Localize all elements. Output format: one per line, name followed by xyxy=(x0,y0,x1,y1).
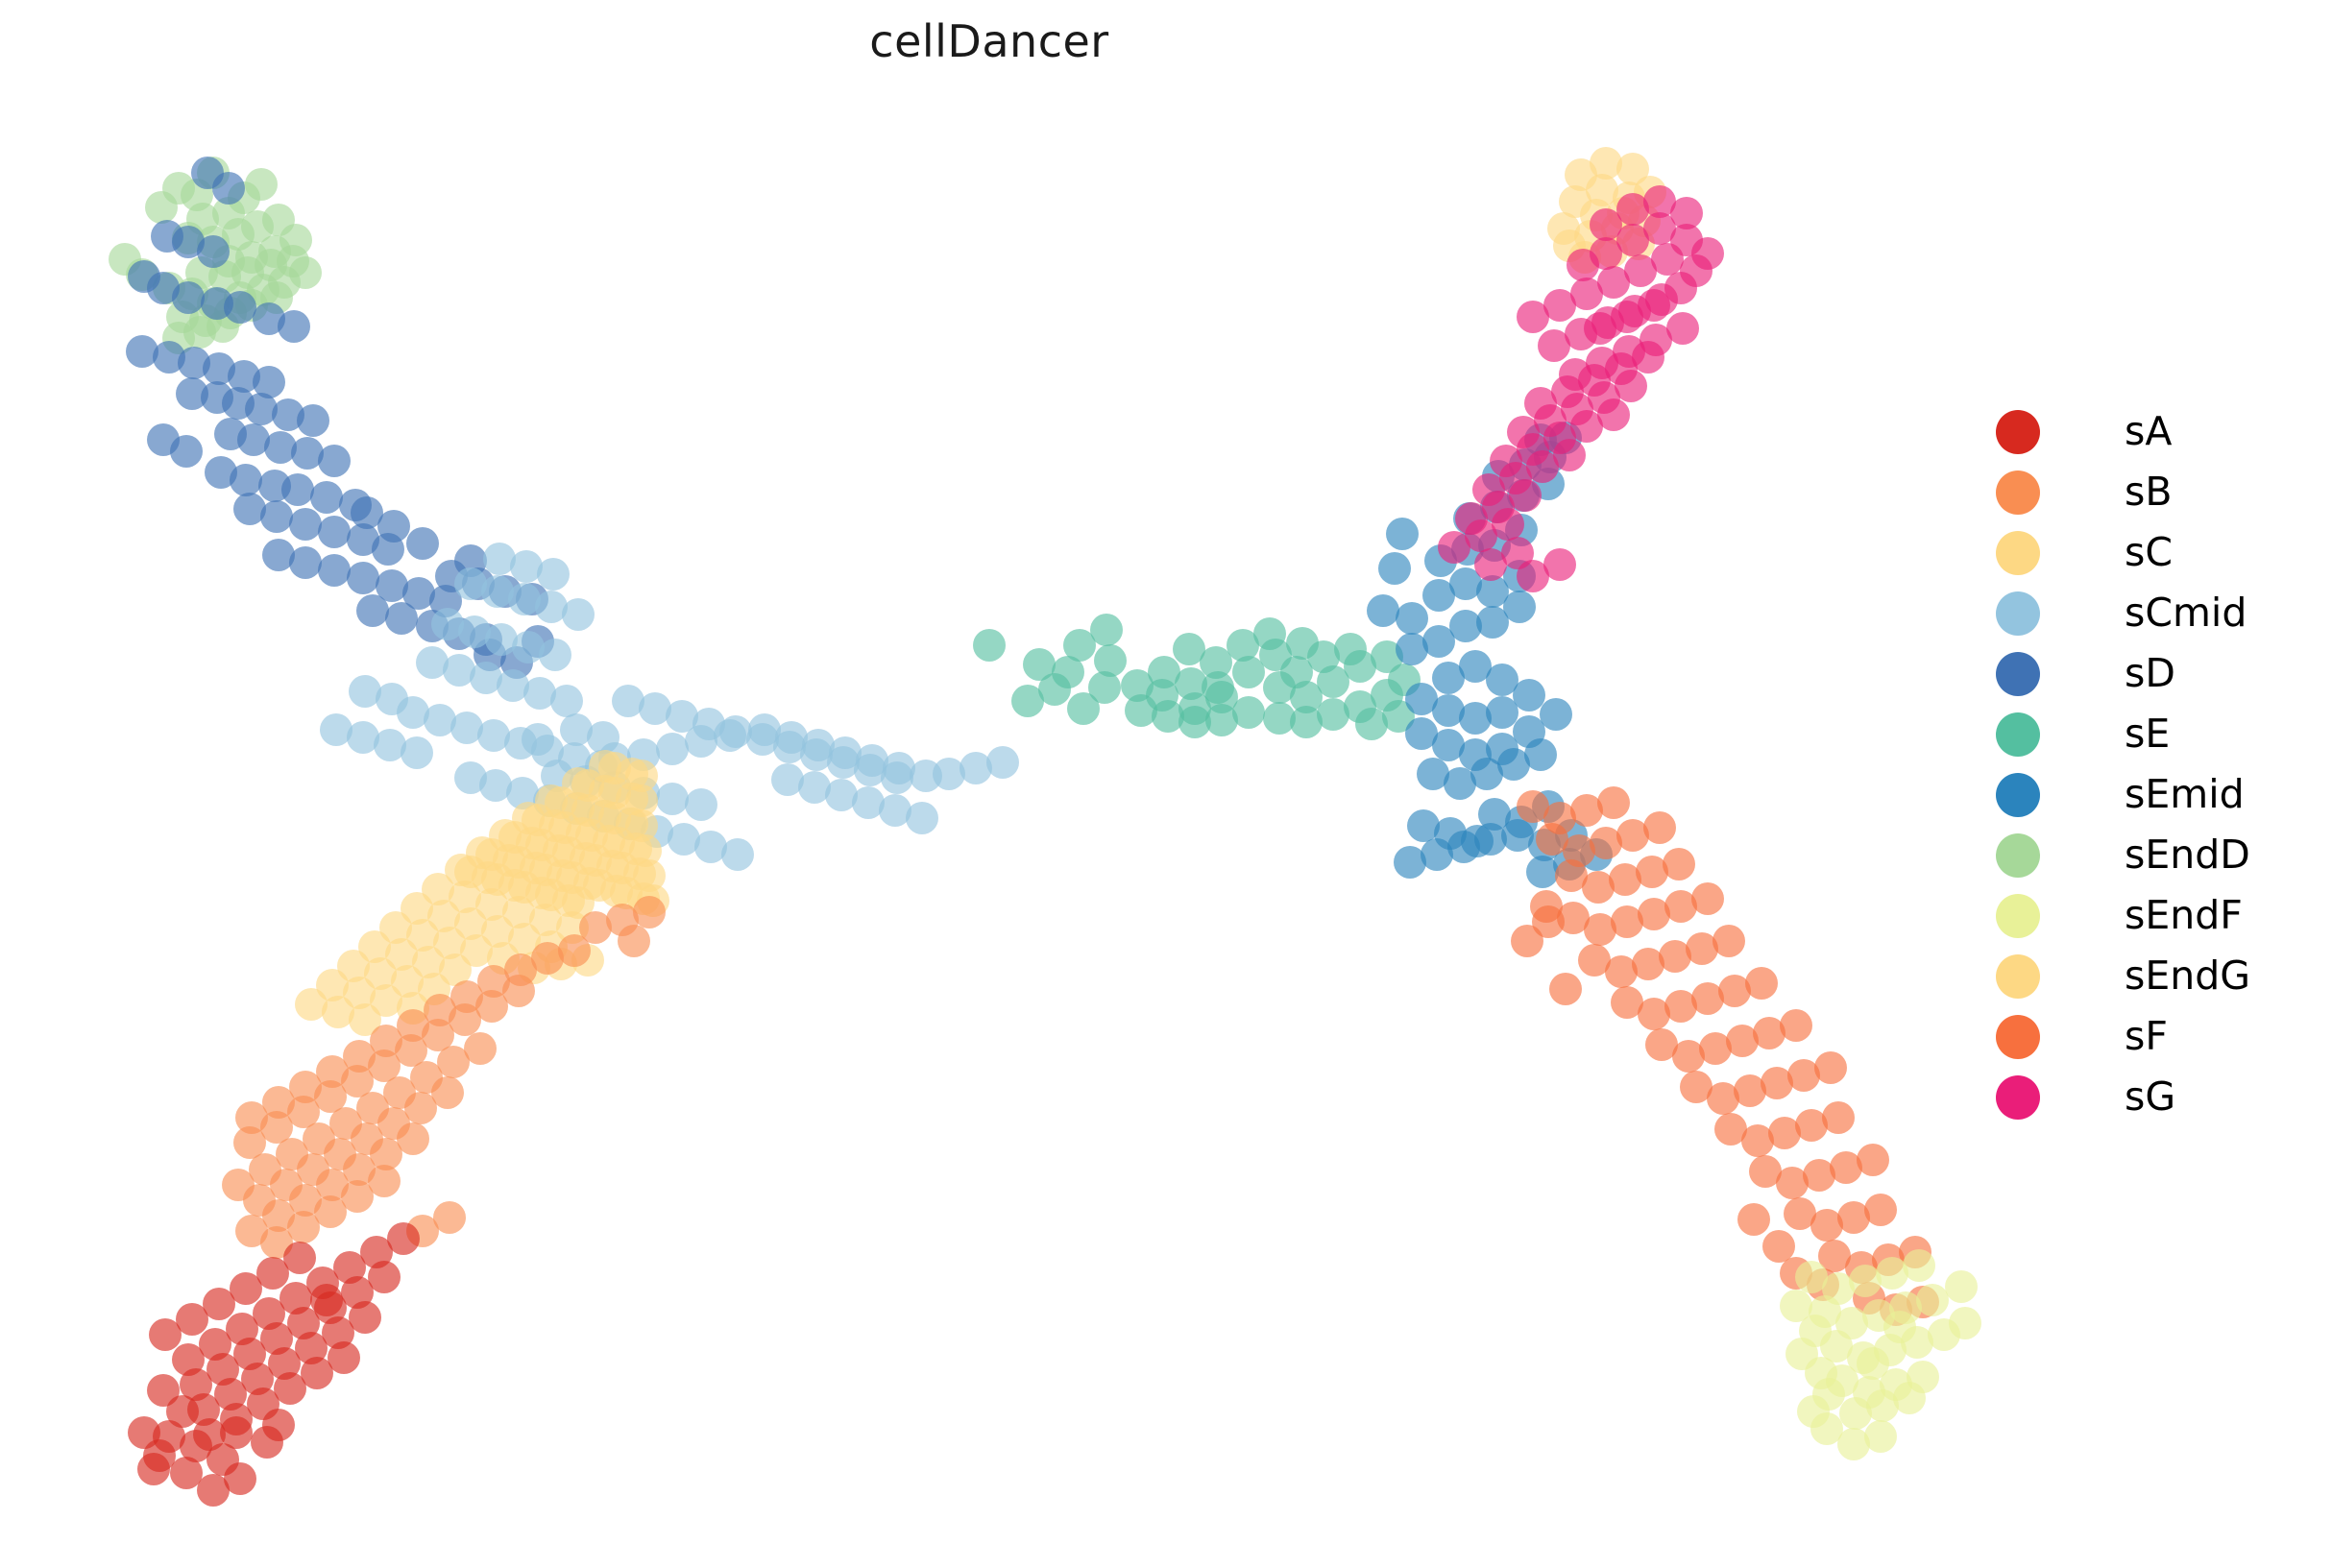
scatter-point xyxy=(618,925,650,957)
legend-swatch-icon xyxy=(1996,954,2040,999)
scatter-point xyxy=(1812,1378,1845,1411)
scatter-point xyxy=(358,930,391,963)
scatter-point xyxy=(277,245,309,277)
scatter-point xyxy=(566,817,598,850)
scatter-point xyxy=(1507,479,1540,512)
scatter-point xyxy=(166,1395,199,1428)
legend-item-scmid[interactable]: sCmid xyxy=(1996,583,2322,643)
scatter-point xyxy=(627,777,660,809)
scatter-point xyxy=(1478,529,1511,562)
scatter-point xyxy=(351,496,383,529)
scatter-point xyxy=(235,1215,268,1247)
scatter-point xyxy=(449,1003,481,1036)
scatter-point xyxy=(262,1086,295,1119)
scatter-point xyxy=(1899,1236,1931,1268)
scatter-point xyxy=(222,387,255,420)
scatter-point xyxy=(301,1357,333,1389)
scatter-point xyxy=(445,854,477,886)
legend-item-sg[interactable]: sG xyxy=(1996,1067,2322,1127)
scatter-point xyxy=(625,760,658,792)
scatter-point xyxy=(1632,948,1664,980)
scatter-point xyxy=(422,873,454,905)
legend-item-sendg[interactable]: sEndG xyxy=(1996,946,2322,1006)
scatter-point xyxy=(641,815,673,848)
scatter-point xyxy=(201,381,233,414)
scatter-point xyxy=(279,1282,312,1315)
scatter-point xyxy=(1559,185,1591,218)
scatter-point xyxy=(489,819,522,852)
scatter-point xyxy=(249,1153,281,1186)
scatter-point xyxy=(454,856,487,888)
scatter-point xyxy=(212,245,245,277)
legend-item-semid[interactable]: sEmid xyxy=(1996,764,2322,825)
scatter-point xyxy=(1590,208,1622,241)
scatter-point xyxy=(1549,973,1582,1005)
scatter-point xyxy=(1121,669,1154,702)
scatter-point xyxy=(422,1019,454,1051)
scatter-point xyxy=(656,733,689,765)
scatter-point xyxy=(1094,644,1127,677)
scatter-point xyxy=(193,1418,226,1451)
scatter-point xyxy=(1872,1243,1905,1276)
scatter-point xyxy=(1643,185,1676,218)
scatter-point xyxy=(1478,798,1511,831)
scatter-point xyxy=(598,777,631,809)
scatter-point xyxy=(1090,614,1123,646)
scatter-point xyxy=(351,1122,383,1155)
scatter-point xyxy=(295,988,328,1021)
scatter-point xyxy=(771,763,804,796)
scatter-point xyxy=(1503,560,1536,592)
scatter-point xyxy=(1691,982,1724,1015)
scatter-point xyxy=(431,608,464,640)
scatter-point xyxy=(379,911,412,944)
scatter-point xyxy=(233,493,266,525)
scatter-point xyxy=(1601,212,1634,245)
scatter-point xyxy=(1432,694,1465,727)
scatter-point xyxy=(247,274,279,306)
scatter-point xyxy=(1590,827,1622,859)
scatter-point xyxy=(214,297,247,329)
scatter-point xyxy=(508,923,541,955)
scatter-point xyxy=(147,1374,180,1407)
scatter-point xyxy=(1632,341,1664,374)
scatter-point xyxy=(616,783,648,815)
scatter-point xyxy=(596,850,629,882)
legend-swatch-icon xyxy=(1996,410,2040,454)
scatter-point xyxy=(775,721,808,754)
scatter-point xyxy=(1591,306,1624,339)
scatter-point xyxy=(316,969,349,1001)
scatter-point xyxy=(508,583,541,615)
scatter-point xyxy=(245,393,278,425)
scatter-point xyxy=(151,220,183,253)
scatter-point xyxy=(347,523,379,556)
scatter-point xyxy=(502,846,535,879)
scatter-point xyxy=(162,322,195,354)
scatter-point xyxy=(1622,228,1655,260)
scatter-point xyxy=(1807,1268,1839,1301)
scatter-point xyxy=(1889,1291,1922,1324)
scatter-point xyxy=(1928,1318,1960,1351)
scatter-point xyxy=(1465,519,1497,552)
scatter-point xyxy=(1344,690,1376,723)
scatter-point xyxy=(539,639,571,671)
scatter-point xyxy=(579,911,612,944)
scatter-point xyxy=(854,754,887,786)
scatter-point xyxy=(1513,679,1545,712)
scatter-point xyxy=(1173,633,1205,665)
scatter-point xyxy=(410,1061,443,1094)
scatter-point xyxy=(906,802,938,834)
scatter-point xyxy=(1883,1311,1916,1343)
scatter-point xyxy=(477,965,510,998)
scatter-point xyxy=(247,1387,279,1420)
scatter-point xyxy=(1396,633,1428,665)
scatter-point xyxy=(318,445,351,477)
scatter-point xyxy=(1543,802,1576,834)
scatter-point xyxy=(401,736,433,769)
scatter-point xyxy=(1453,502,1486,535)
scatter-point xyxy=(1205,704,1238,736)
scatter-point xyxy=(1553,229,1586,262)
scatter-point xyxy=(212,172,245,205)
scatter-point xyxy=(1857,1347,1889,1380)
scatter-point xyxy=(589,775,621,808)
scatter-point xyxy=(1734,1074,1766,1107)
scatter-point xyxy=(1761,1067,1793,1099)
scatter-point xyxy=(349,1003,381,1036)
scatter-point xyxy=(1492,508,1524,541)
scatter-point xyxy=(856,744,888,777)
scatter-point xyxy=(1424,544,1457,577)
scatter-point xyxy=(181,179,213,211)
scatter-point xyxy=(1814,1051,1847,1084)
scatter-point xyxy=(314,1080,347,1113)
scatter-point xyxy=(397,992,429,1025)
scatter-point xyxy=(508,871,541,904)
scatter-point xyxy=(1659,940,1691,973)
scatter-point xyxy=(1459,702,1492,735)
scatter-point xyxy=(1613,335,1645,368)
scatter-point xyxy=(500,646,533,679)
scatter-point xyxy=(437,1046,470,1078)
scatter-point xyxy=(1459,738,1492,771)
scatter-point xyxy=(172,281,205,314)
scatter-point xyxy=(1726,1025,1759,1057)
scatter-point xyxy=(1263,702,1296,735)
scatter-point xyxy=(1063,629,1096,662)
scatter-point xyxy=(560,792,593,825)
legend-swatch-icon xyxy=(1996,1015,2040,1059)
scatter-point xyxy=(633,859,666,892)
scatter-point xyxy=(1615,370,1647,402)
scatter-point xyxy=(571,944,604,977)
scatter-point xyxy=(372,533,404,566)
scatter-point xyxy=(1513,715,1545,748)
scatter-point xyxy=(1830,1151,1862,1184)
scatter-point xyxy=(1903,1249,1935,1282)
scatter-point xyxy=(1038,673,1071,706)
scatter-point xyxy=(191,157,224,189)
scatter-point xyxy=(1616,819,1649,852)
legend-swatch-icon xyxy=(1996,833,2040,878)
scatter-point xyxy=(402,577,435,610)
scatter-point xyxy=(1787,1059,1820,1092)
scatter-point xyxy=(376,569,408,602)
scatter-point xyxy=(268,266,301,299)
scatter-point xyxy=(1530,890,1563,923)
scatter-point xyxy=(1534,404,1567,437)
scatter-point xyxy=(1561,393,1593,425)
scatter-point xyxy=(1607,197,1640,229)
legend-item-label: sG xyxy=(2125,1077,2175,1117)
scatter-point xyxy=(881,761,913,794)
scatter-point xyxy=(512,631,545,663)
legend-item-sf[interactable]: sF xyxy=(1996,1006,2322,1067)
scatter-point xyxy=(1810,1412,1843,1445)
scatter-point xyxy=(639,692,671,725)
scatter-point xyxy=(1355,708,1388,740)
scatter-point xyxy=(798,771,831,804)
scatter-point xyxy=(253,366,285,398)
scatter-point xyxy=(1286,627,1319,660)
scatter-point xyxy=(341,1276,374,1309)
scatter-point xyxy=(502,975,535,1007)
scatter-point xyxy=(879,794,911,827)
scatter-point xyxy=(1753,1017,1785,1049)
scatter-point xyxy=(685,725,717,758)
scatter-point xyxy=(166,301,199,333)
scatter-point xyxy=(287,1307,320,1339)
scatter-point xyxy=(1011,685,1044,717)
scatter-point xyxy=(1407,809,1440,842)
scatter-point xyxy=(562,598,595,631)
scatter-point xyxy=(297,1153,329,1186)
scatter-point xyxy=(328,1341,360,1374)
scatter-point xyxy=(416,646,449,679)
scatter-point xyxy=(477,719,510,752)
scatter-point xyxy=(1509,479,1542,512)
scatter-point xyxy=(206,1443,239,1476)
scatter-point xyxy=(310,1284,343,1316)
scatter-point xyxy=(1205,681,1238,713)
scatter-point xyxy=(1367,594,1399,627)
scatter-point xyxy=(1344,650,1376,683)
scatter-point xyxy=(487,942,520,975)
scatter-point xyxy=(172,222,205,254)
scatter-point xyxy=(339,489,372,521)
scatter-point xyxy=(573,867,606,900)
scatter-point xyxy=(598,771,631,804)
scatter-point xyxy=(1864,1194,1897,1226)
scatter-point xyxy=(153,341,185,374)
scatter-point xyxy=(224,291,256,324)
scatter-point xyxy=(883,752,915,784)
scatter-point xyxy=(289,546,322,579)
scatter-point xyxy=(289,508,322,541)
scatter-point xyxy=(541,760,573,792)
scatter-point xyxy=(1718,975,1751,1007)
scatter-point xyxy=(1290,681,1323,713)
scatter-point xyxy=(343,1153,376,1186)
scatter-point xyxy=(206,1353,239,1386)
scatter-point xyxy=(512,802,545,834)
scatter-point xyxy=(474,639,506,671)
scatter-point xyxy=(170,1457,203,1489)
scatter-point xyxy=(370,1025,402,1057)
scatter-point xyxy=(1597,266,1630,299)
scatter-point xyxy=(222,218,255,251)
scatter-point xyxy=(556,861,589,894)
scatter-point xyxy=(406,527,439,560)
scatter-point xyxy=(180,1430,212,1462)
scatter-point xyxy=(1263,671,1296,704)
scatter-point xyxy=(1148,656,1180,688)
scatter-point xyxy=(633,896,666,929)
scatter-point xyxy=(212,197,245,229)
legend-item-sc[interactable]: sC xyxy=(1996,522,2322,583)
legend-item-label: sD xyxy=(2125,654,2175,693)
scatter-point xyxy=(172,1343,205,1376)
scatter-point xyxy=(481,575,514,608)
legend-item-label: sEndF xyxy=(2125,896,2243,935)
scatter-point xyxy=(1949,1307,1981,1339)
scatter-point xyxy=(153,1420,185,1453)
scatter-point xyxy=(1691,882,1724,915)
scatter-point xyxy=(1780,1009,1812,1042)
scatter-point xyxy=(1482,460,1515,493)
scatter-point xyxy=(1511,925,1543,957)
scatter-point xyxy=(1636,856,1668,888)
scatter-point xyxy=(1524,387,1557,420)
scatter-point xyxy=(548,811,581,844)
scatter-point xyxy=(1434,817,1467,850)
scatter-point xyxy=(162,172,195,205)
scatter-point xyxy=(1553,848,1586,880)
scatter-point xyxy=(1672,1040,1705,1073)
legend-item-label: sEndG xyxy=(2125,956,2250,996)
scatter-point xyxy=(214,1378,247,1411)
scatter-point xyxy=(443,617,475,650)
scatter-point xyxy=(1517,301,1549,333)
scatter-point xyxy=(1524,738,1557,771)
legend-item-sendd[interactable]: sEndD xyxy=(1996,825,2322,885)
scatter-point xyxy=(558,742,591,775)
scatter-point xyxy=(1543,289,1576,322)
legend-item-label: sF xyxy=(2125,1017,2168,1056)
scatter-point xyxy=(1737,1203,1770,1236)
scatter-point xyxy=(253,1297,285,1330)
scatter-point xyxy=(1052,656,1084,688)
scatter-point xyxy=(356,1092,389,1124)
scatter-point xyxy=(1666,312,1699,345)
scatter-point xyxy=(525,877,558,909)
scatter-point xyxy=(439,953,472,986)
scatter-point xyxy=(1532,905,1565,938)
legend-item-sa[interactable]: sA xyxy=(1996,401,2322,462)
scatter-point xyxy=(228,360,260,393)
scatter-point xyxy=(1432,662,1465,694)
scatter-point xyxy=(470,662,502,694)
legend-item-sd[interactable]: sD xyxy=(1996,643,2322,704)
scatter-point xyxy=(627,738,660,771)
scatter-point xyxy=(1588,381,1620,414)
scatter-point xyxy=(1253,617,1286,650)
scatter-point xyxy=(472,861,504,894)
scatter-point xyxy=(231,256,264,289)
scatter-point xyxy=(172,226,205,258)
scatter-point xyxy=(1664,890,1697,923)
scatter-point xyxy=(1396,602,1428,635)
scatter-point xyxy=(1388,663,1421,696)
scatter-point xyxy=(429,585,462,617)
scatter-point xyxy=(1472,473,1505,506)
scatter-point xyxy=(1853,1282,1885,1315)
scatter-point xyxy=(464,1032,497,1065)
legend-item-sendf[interactable]: sEndF xyxy=(1996,885,2322,946)
scatter-point xyxy=(1449,567,1482,600)
scatter-point xyxy=(178,347,210,379)
scatter-point xyxy=(1866,1389,1899,1422)
legend-item-sb[interactable]: sB xyxy=(1996,462,2322,522)
scatter-point xyxy=(341,1065,374,1098)
scatter-point xyxy=(1505,806,1538,838)
scatter-point xyxy=(1945,1270,1978,1303)
scatter-point xyxy=(137,1453,170,1485)
scatter-point xyxy=(625,784,658,817)
scatter-point xyxy=(1609,863,1641,896)
scatter-point xyxy=(1839,1397,1872,1430)
scatter-point xyxy=(529,854,562,886)
scatter-point xyxy=(1586,347,1618,379)
scatter-point xyxy=(600,875,633,907)
scatter-point xyxy=(260,1226,293,1259)
scatter-point xyxy=(1175,667,1207,700)
scatter-point xyxy=(1371,679,1403,712)
scatter-point xyxy=(203,352,235,385)
scatter-point xyxy=(289,256,322,289)
scatter-point xyxy=(1540,698,1572,731)
scatter-point xyxy=(550,685,583,717)
scatter-point xyxy=(1643,811,1676,844)
scatter-point xyxy=(1835,1307,1868,1339)
scatter-point xyxy=(1449,610,1482,642)
legend-item-se[interactable]: sE xyxy=(1996,704,2322,764)
scatter-point xyxy=(214,418,247,450)
scatter-point xyxy=(589,800,621,832)
scatter-point xyxy=(1125,694,1157,727)
scatter-point xyxy=(197,287,230,320)
scatter-point xyxy=(385,938,418,971)
scatter-point xyxy=(435,560,468,592)
scatter-point xyxy=(1611,301,1643,333)
scatter-point xyxy=(237,423,270,456)
scatter-point xyxy=(746,723,779,756)
scatter-point xyxy=(1584,312,1616,345)
scatter-point xyxy=(347,562,379,594)
scatter-point xyxy=(1178,692,1211,725)
scatter-point xyxy=(153,272,185,304)
scatter-point xyxy=(481,915,514,948)
scatter-point xyxy=(1534,441,1567,473)
scatter-point xyxy=(800,738,833,771)
scatter-point xyxy=(562,767,595,800)
scatter-point xyxy=(570,765,602,798)
scatter-point xyxy=(1474,823,1507,856)
scatter-point xyxy=(183,316,216,349)
scatter-point xyxy=(406,919,439,952)
